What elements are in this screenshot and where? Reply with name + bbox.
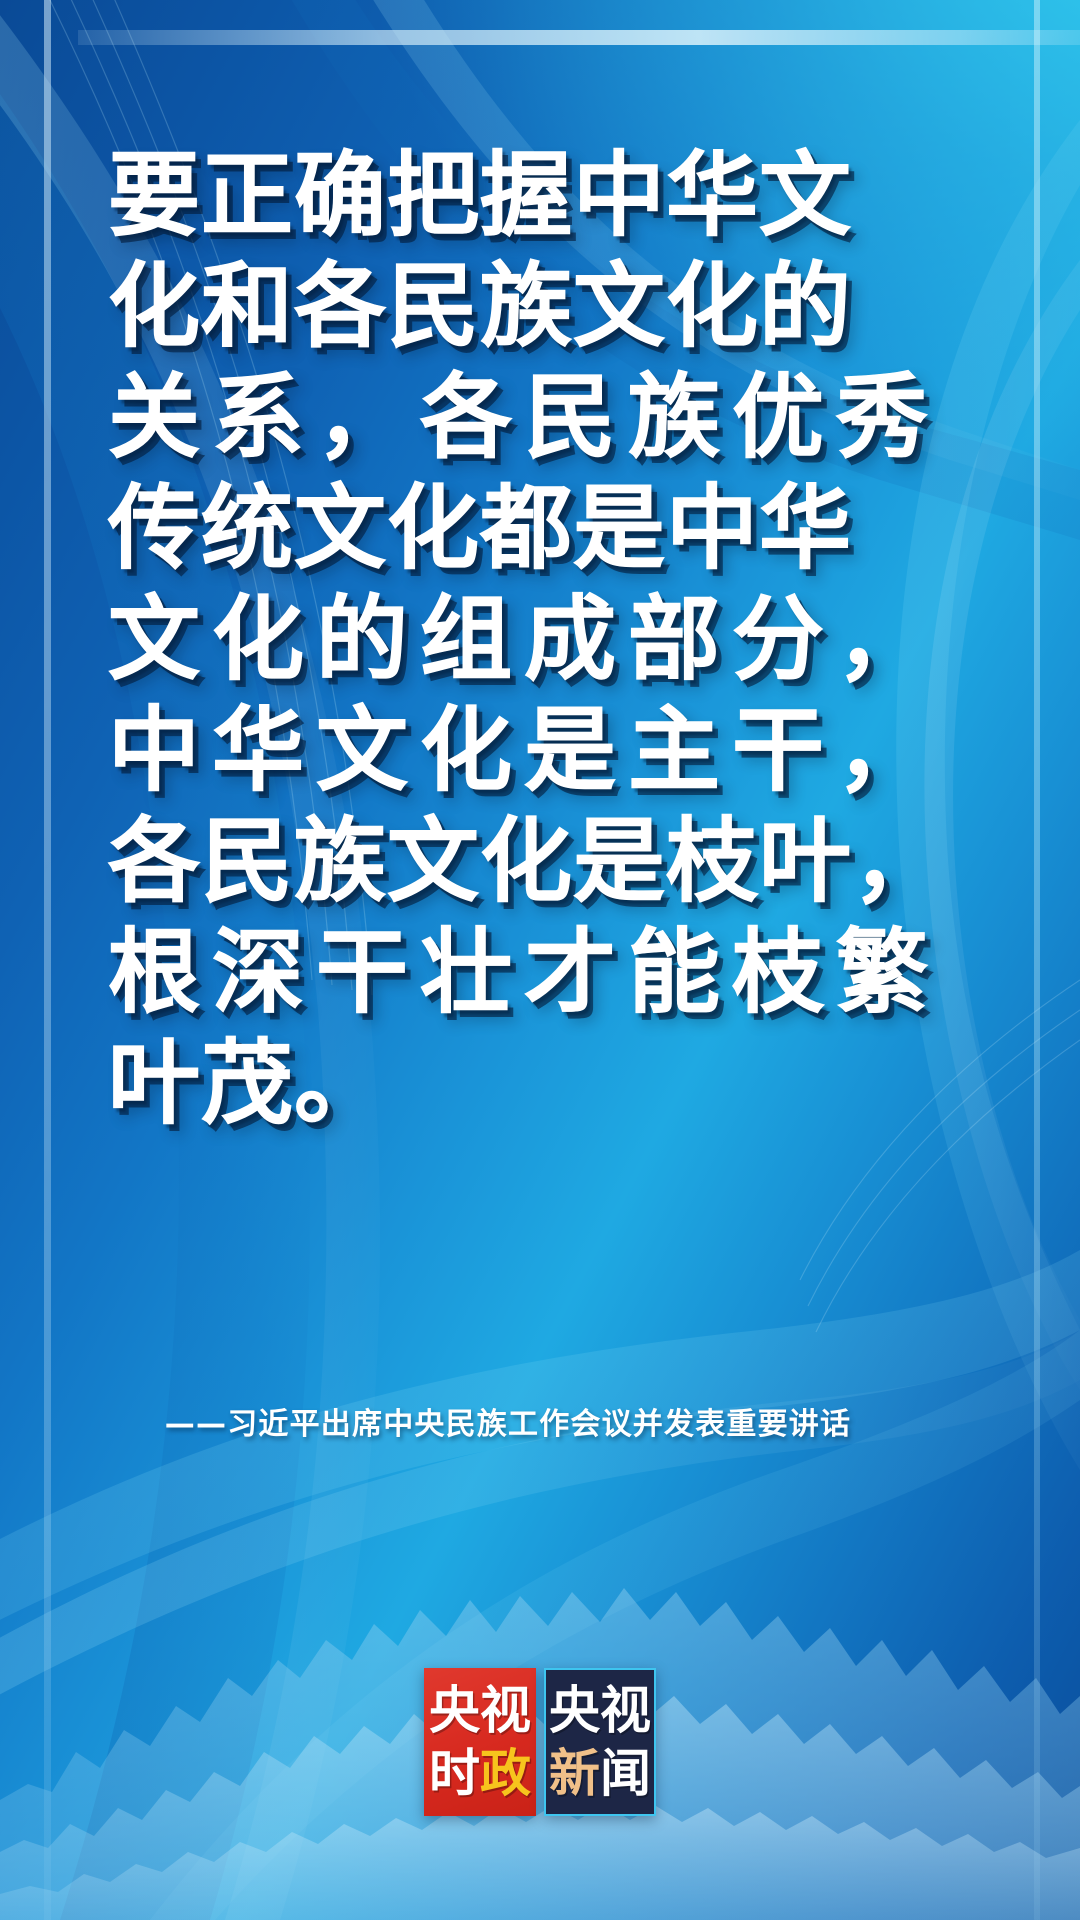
quote-line-2: 化和各民族文化的	[108, 251, 968, 362]
left-accent-stripe	[44, 0, 51, 1920]
logo-xinwen-row-1: 央 视	[546, 1680, 654, 1743]
quote-text-block: 要正确把握中华文 化和各民族文化的 关系，各民族优秀 传统文化都是中华 文化的组…	[108, 140, 968, 1139]
news-quote-poster: 要正确把握中华文 化和各民族文化的 关系，各民族优秀 传统文化都是中华 文化的组…	[0, 0, 1080, 1920]
logo-xinwen-char-xin: 新	[549, 1749, 600, 1801]
quote-line-3: 关系，各民族优秀	[108, 362, 968, 473]
attribution-text: ——习近平出席中央民族工作会议并发表重要讲话	[165, 1404, 851, 1446]
logo-xinwen-char-wen: 闻	[600, 1749, 651, 1801]
quote-line-4: 传统文化都是中华	[108, 473, 968, 584]
logo-group: 央 视 时 政 央 视 新 闻	[0, 1668, 1080, 1816]
logo-shizheng-row-2: 时 政	[424, 1743, 536, 1806]
quote-line-1: 要正确把握中华文	[108, 140, 968, 251]
logo-yangshi-shizheng[interactable]: 央 视 时 政	[424, 1668, 536, 1816]
right-accent-stripe	[1034, 0, 1040, 1920]
logo-xinwen-row-2: 新 闻	[546, 1743, 654, 1806]
quote-line-8: 根深干壮才能枝繁	[108, 917, 968, 1028]
logo-shizheng-char-yang: 央	[429, 1686, 480, 1738]
logo-shizheng-char-shi: 视	[480, 1686, 531, 1738]
logo-shizheng-char-time: 时	[429, 1749, 480, 1801]
quote-line-5: 文化的组成部分，	[108, 584, 968, 695]
quote-line-9: 叶茂。	[108, 1028, 968, 1139]
quote-line-6: 中华文化是主干，	[108, 695, 968, 806]
logo-shizheng-char-zheng: 政	[480, 1749, 531, 1801]
attribution: ——习近平出席中央民族工作会议并发表重要讲话	[0, 1404, 1080, 1446]
quote-line-7: 各民族文化是枝叶，	[108, 806, 968, 917]
logo-xinwen-char-yang: 央	[549, 1686, 600, 1738]
logo-xinwen-char-shi: 视	[600, 1686, 651, 1738]
top-highlight-bar	[78, 30, 1080, 45]
logo-shizheng-row-1: 央 视	[424, 1680, 536, 1743]
logo-yangshi-xinwen[interactable]: 央 视 新 闻	[544, 1668, 656, 1816]
